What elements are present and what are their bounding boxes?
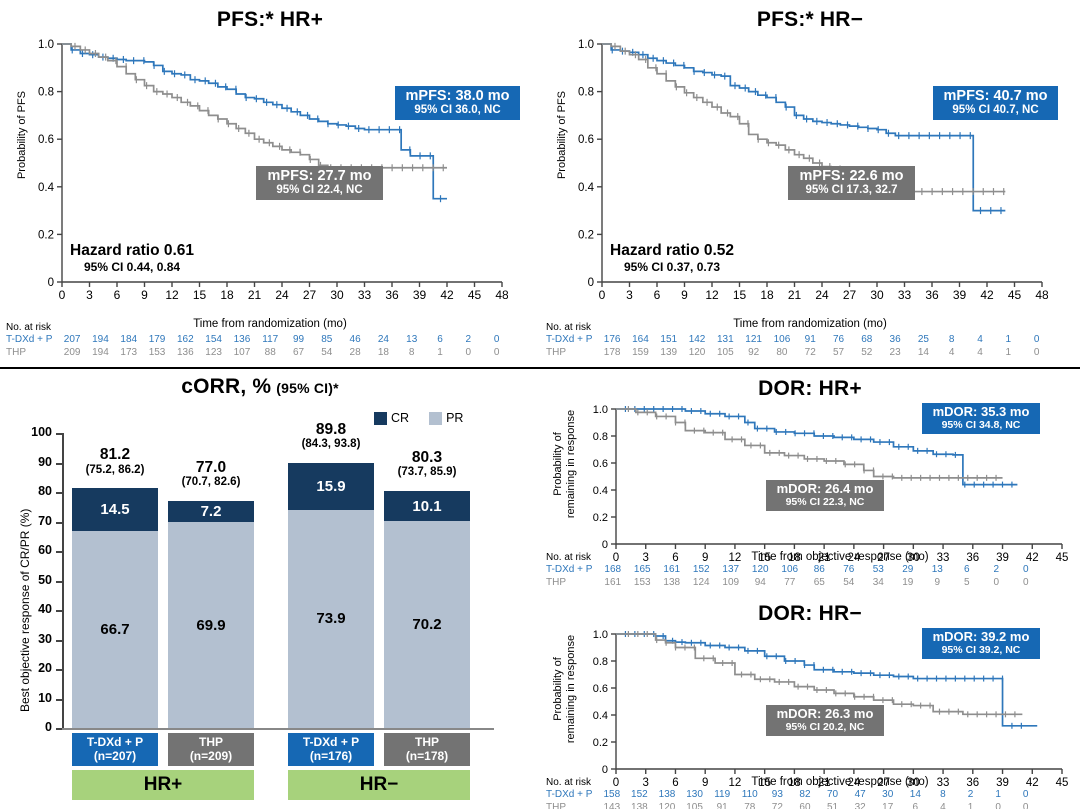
risk-cell: 86 — [805, 564, 835, 577]
corr-title-main: cORR, % — [181, 375, 271, 398]
risk-cell: 2 — [982, 564, 1012, 577]
risk-cell: 91 — [708, 802, 736, 809]
risk-cell: 138 — [653, 789, 681, 802]
risk-cell: 0 — [1022, 334, 1050, 347]
risk-cell: 24 — [369, 334, 397, 347]
corr-arm-name: THP — [415, 736, 439, 749]
y-axis-label-pfs_hr_pos: Probability of PFS — [16, 55, 28, 215]
y-axis-label-line2: remaining in response — [565, 399, 578, 529]
risk-cell: 207 — [58, 334, 86, 347]
callout-arm2-line2: 95% CI 22.4, NC — [262, 184, 377, 197]
risk-cell: 0 — [1022, 347, 1050, 360]
corr-tickmark — [56, 581, 62, 583]
risk-cell: 136 — [171, 347, 199, 360]
risk-row-arm1: T-DXd + P2071941841791621541361179985462… — [6, 334, 511, 347]
risk-cell: 29 — [893, 564, 923, 577]
risk-cell: 1 — [994, 334, 1022, 347]
svg-text:0: 0 — [602, 764, 608, 776]
corr-group-box: HR+ — [72, 770, 254, 800]
svg-text:12: 12 — [705, 288, 719, 302]
callout-arm2-line1: mDOR: 26.3 mo — [772, 707, 878, 722]
svg-text:18: 18 — [760, 288, 774, 302]
legend-label: PR — [446, 411, 463, 425]
corr-tickmark — [56, 640, 62, 642]
corr-total-value: 80.3 — [370, 449, 484, 466]
svg-text:1.0: 1.0 — [578, 39, 594, 51]
corr-segment-cr: 10.1 — [384, 491, 470, 521]
risk-cell: 60 — [791, 802, 819, 809]
risk-cell: 153 — [143, 347, 171, 360]
risk-cell: 119 — [708, 789, 736, 802]
risk-cell: 32 — [846, 802, 874, 809]
svg-text:15: 15 — [733, 288, 747, 302]
risk-cell: 176 — [598, 334, 626, 347]
risk-cell: 91 — [796, 334, 824, 347]
risk-cell: 72 — [764, 802, 792, 809]
risk-cell: 117 — [256, 334, 284, 347]
risk-row-label: THP — [546, 347, 598, 360]
risk-cell: 152 — [626, 789, 654, 802]
svg-text:0: 0 — [588, 277, 594, 289]
corr-total-ci: (73.7, 85.9) — [370, 466, 484, 479]
risk-cell: 34 — [864, 577, 894, 590]
svg-text:27: 27 — [303, 288, 317, 302]
risk-cell: 1 — [426, 347, 454, 360]
risk-cell: 18 — [369, 347, 397, 360]
risk-cell: 8 — [938, 334, 966, 347]
hazard-ratio-pfs_hr_neg: Hazard ratio 0.5295% CI 0.37, 0.73 — [610, 242, 734, 274]
risk-table-dor_hr_pos: No. at riskT-DXd + P16816516115213712010… — [546, 552, 1041, 589]
callout-arm2-line1: mPFS: 27.7 mo — [262, 168, 377, 184]
risk-cell: 0 — [1011, 564, 1041, 577]
svg-text:24: 24 — [815, 288, 829, 302]
risk-cell: 161 — [598, 577, 628, 590]
risk-cell: 54 — [834, 577, 864, 590]
risk-cell: 80 — [768, 347, 796, 360]
risk-cell: 6 — [952, 564, 982, 577]
svg-text:0.8: 0.8 — [578, 87, 594, 99]
risk-cell: 57 — [824, 347, 852, 360]
svg-text:9: 9 — [681, 288, 688, 302]
corr-tickmark — [56, 433, 62, 435]
risk-cell: 72 — [796, 347, 824, 360]
corr-y-axis-label: Best objective response of CR/PR (%) — [18, 509, 32, 712]
hazard-ratio-value: Hazard ratio 0.52 — [610, 242, 734, 260]
risk-cell: 1 — [994, 347, 1022, 360]
panel-title-pfs_hr_pos: PFS:* HR+ — [10, 8, 530, 32]
corr-total-value: 77.0 — [154, 459, 268, 476]
svg-text:45: 45 — [1056, 552, 1069, 564]
section-divider — [0, 367, 1080, 369]
panel-title-pfs_hr_neg: PFS:* HR− — [550, 8, 1070, 32]
risk-table-pfs_hr_neg: No. at riskT-DXd + P17616415114213112110… — [546, 322, 1051, 359]
callout-arm1-line2: 95% CI 40.7, NC — [939, 104, 1052, 117]
risk-table-grid: T-DXd + P2071941841791621541361179985462… — [6, 334, 511, 359]
risk-cell: 110 — [736, 789, 764, 802]
risk-row-label: T-DXd + P — [546, 334, 598, 347]
risk-cell: 106 — [768, 334, 796, 347]
risk-cell: 105 — [681, 802, 709, 809]
corr-arm-box: T-DXd + P(n=207) — [72, 733, 158, 766]
corr-arm-box: T-DXd + P(n=176) — [288, 733, 374, 766]
callout-arm2-pfs_hr_neg: mPFS: 22.6 mo95% CI 17.3, 32.7 — [788, 166, 915, 200]
risk-cell: 165 — [628, 564, 658, 577]
corr-arm-n: (n=178) — [406, 750, 448, 763]
risk-row-label: T-DXd + P — [6, 334, 58, 347]
hazard-ratio-pfs_hr_pos: Hazard ratio 0.6195% CI 0.44, 0.84 — [70, 242, 194, 274]
svg-text:0.2: 0.2 — [578, 229, 594, 241]
callout-arm1-pfs_hr_pos: mPFS: 38.0 mo95% CI 36.0, NC — [395, 86, 520, 120]
risk-cell: 68 — [853, 334, 881, 347]
risk-cell: 19 — [893, 577, 923, 590]
callout-arm2-dor_hr_neg: mDOR: 26.3 mo95% CI 20.2, NC — [766, 705, 884, 736]
risk-cell: 4 — [966, 334, 994, 347]
hazard-ratio-value: Hazard ratio 0.61 — [70, 242, 194, 260]
risk-cell: 65 — [805, 577, 835, 590]
corr-tickmark — [56, 522, 62, 524]
risk-row-label: T-DXd + P — [546, 564, 598, 577]
risk-cell: 0 — [482, 334, 510, 347]
risk-cell: 178 — [598, 347, 626, 360]
svg-text:18: 18 — [220, 288, 234, 302]
callout-arm1-dor_hr_neg: mDOR: 39.2 mo95% CI 39.2, NC — [922, 628, 1040, 659]
risk-cell: 14 — [902, 789, 930, 802]
risk-cell: 53 — [864, 564, 894, 577]
risk-cell: 142 — [683, 334, 711, 347]
risk-cell: 131 — [711, 334, 739, 347]
svg-text:3: 3 — [86, 288, 93, 302]
risk-cell: 76 — [834, 564, 864, 577]
risk-table-grid: T-DXd + P1581521381301191109382704730148… — [546, 789, 1040, 809]
risk-cell: 164 — [626, 334, 654, 347]
risk-table-header: No. at risk — [546, 552, 1041, 563]
risk-cell: 1 — [957, 802, 985, 809]
risk-cell: 0 — [482, 347, 510, 360]
figure-root: PFS:* HR+1.00.80.60.40.20036912151821242… — [0, 0, 1080, 809]
risk-cell: 0 — [454, 347, 482, 360]
svg-text:0.4: 0.4 — [593, 710, 608, 722]
svg-text:6: 6 — [654, 288, 661, 302]
risk-row-label: THP — [546, 577, 598, 590]
risk-cell: 162 — [171, 334, 199, 347]
risk-cell: 93 — [764, 789, 792, 802]
risk-cell: 85 — [313, 334, 341, 347]
callout-arm1-line1: mDOR: 35.3 mo — [928, 405, 1034, 420]
risk-cell: 123 — [199, 347, 227, 360]
risk-cell: 2 — [957, 789, 985, 802]
svg-text:1.0: 1.0 — [593, 629, 608, 641]
corr-bar: 14.566.7 — [72, 488, 158, 728]
risk-cell: 137 — [716, 564, 746, 577]
risk-cell: 143 — [598, 802, 626, 809]
svg-text:21: 21 — [788, 288, 802, 302]
corr-y-tick-label: 100 — [26, 425, 52, 439]
risk-cell: 77 — [775, 577, 805, 590]
risk-table-header: No. at risk — [546, 322, 1051, 333]
risk-cell: 82 — [791, 789, 819, 802]
svg-text:0.4: 0.4 — [38, 182, 55, 194]
svg-text:39: 39 — [413, 288, 427, 302]
corr-arm-name: T-DXd + P — [87, 736, 143, 749]
corr-tickmark — [56, 728, 62, 730]
risk-cell: 28 — [341, 347, 369, 360]
risk-cell: 52 — [853, 347, 881, 360]
hazard-ratio-ci: 95% CI 0.44, 0.84 — [70, 260, 194, 274]
svg-text:42: 42 — [440, 288, 454, 302]
risk-cell: 76 — [824, 334, 852, 347]
svg-text:6: 6 — [114, 288, 121, 302]
svg-text:0.6: 0.6 — [593, 683, 608, 695]
risk-row-arm1: T-DXd + P1761641511421311211069176683625… — [546, 334, 1051, 347]
risk-cell: 13 — [923, 564, 953, 577]
risk-cell: 5 — [952, 577, 982, 590]
panel-title-corr: cORR, %(95% CI)* — [10, 375, 510, 399]
risk-cell: 2 — [454, 334, 482, 347]
corr-arm-n: (n=209) — [190, 750, 232, 763]
corr-bar-total: 77.0(70.7, 82.6) — [154, 459, 268, 489]
y-axis-label-line1: Probability of — [552, 624, 565, 754]
svg-text:0: 0 — [599, 288, 606, 302]
risk-row-arm2: THP1431381201059178726051321764100 — [546, 802, 1040, 809]
callout-arm1-pfs_hr_neg: mPFS: 40.7 mo95% CI 40.7, NC — [933, 86, 1058, 120]
svg-text:42: 42 — [980, 288, 994, 302]
risk-cell: 106 — [775, 564, 805, 577]
corr-total-value: 89.8 — [274, 421, 388, 438]
corr-group-box: HR− — [288, 770, 470, 800]
risk-cell: 25 — [909, 334, 937, 347]
callout-arm1-line1: mDOR: 39.2 mo — [928, 630, 1034, 645]
svg-text:12: 12 — [165, 288, 179, 302]
risk-cell: 124 — [687, 577, 717, 590]
svg-text:0.4: 0.4 — [593, 485, 608, 497]
svg-text:30: 30 — [870, 288, 884, 302]
corr-y-tick-label: 80 — [26, 484, 52, 498]
risk-row-arm1: T-DXd + P1681651611521371201068676532913… — [546, 564, 1041, 577]
svg-text:0.6: 0.6 — [38, 134, 54, 146]
risk-cell: 17 — [874, 802, 902, 809]
callout-arm2-line2: 95% CI 17.3, 32.7 — [794, 184, 909, 197]
corr-tickmark — [56, 699, 62, 701]
risk-cell: 8 — [398, 347, 426, 360]
hazard-ratio-ci: 95% CI 0.37, 0.73 — [610, 260, 734, 274]
risk-cell: 6 — [902, 802, 930, 809]
risk-table-pfs_hr_pos: No. at riskT-DXd + P20719418417916215413… — [6, 322, 511, 359]
risk-cell: 194 — [86, 334, 114, 347]
risk-cell: 153 — [628, 577, 658, 590]
svg-text:48: 48 — [1035, 288, 1048, 302]
risk-cell: 0 — [984, 802, 1012, 809]
risk-cell: 209 — [58, 347, 86, 360]
risk-cell: 51 — [819, 802, 847, 809]
svg-text:0.6: 0.6 — [593, 458, 608, 470]
corr-arm-name: THP — [199, 736, 223, 749]
corr-arm-n: (n=207) — [94, 750, 136, 763]
risk-cell: 139 — [655, 347, 683, 360]
corr-baseline — [62, 728, 494, 730]
risk-row-arm1: T-DXd + P1581521381301191109382704730148… — [546, 789, 1040, 802]
svg-text:0.2: 0.2 — [593, 512, 608, 524]
svg-text:0: 0 — [59, 288, 66, 302]
callout-arm1-dor_hr_pos: mDOR: 35.3 mo95% CI 34.8, NC — [922, 403, 1040, 434]
risk-cell: 109 — [716, 577, 746, 590]
risk-cell: 70 — [819, 789, 847, 802]
callout-arm2-line2: 95% CI 22.3, NC — [772, 497, 878, 509]
corr-segment-cr: 15.9 — [288, 463, 374, 510]
svg-text:45: 45 — [1008, 288, 1022, 302]
svg-text:45: 45 — [1056, 777, 1069, 789]
svg-text:0.2: 0.2 — [593, 737, 608, 749]
risk-table-header: No. at risk — [6, 322, 511, 333]
risk-cell: 130 — [681, 789, 709, 802]
callout-arm2-line1: mPFS: 22.6 mo — [794, 168, 909, 184]
risk-cell: 67 — [284, 347, 312, 360]
risk-cell: 136 — [228, 334, 256, 347]
risk-cell: 107 — [228, 347, 256, 360]
corr-tickmark — [56, 551, 62, 553]
svg-text:1.0: 1.0 — [593, 404, 608, 416]
corr-segment-cr: 14.5 — [72, 488, 158, 531]
risk-cell: 154 — [199, 334, 227, 347]
risk-cell: 46 — [341, 334, 369, 347]
risk-cell: 168 — [598, 564, 628, 577]
callout-arm2-pfs_hr_pos: mPFS: 27.7 mo95% CI 22.4, NC — [256, 166, 383, 200]
risk-cell: 138 — [626, 802, 654, 809]
callout-arm2-dor_hr_pos: mDOR: 26.4 mo95% CI 22.3, NC — [766, 480, 884, 511]
risk-cell: 99 — [284, 334, 312, 347]
callout-arm1-line2: 95% CI 36.0, NC — [401, 104, 514, 117]
risk-cell: 4 — [929, 802, 957, 809]
risk-cell: 94 — [746, 577, 776, 590]
panel-title-dor_hr_pos: DOR: HR+ — [540, 377, 1080, 401]
risk-row-arm2: THP20919417315313612310788675428188100 — [6, 347, 511, 360]
risk-cell: 4 — [966, 347, 994, 360]
corr-y-tick-label: 90 — [26, 455, 52, 469]
risk-cell: 1 — [984, 789, 1012, 802]
risk-cell: 78 — [736, 802, 764, 809]
km-curve-arm2 — [62, 44, 447, 168]
svg-text:36: 36 — [925, 288, 939, 302]
svg-text:0.8: 0.8 — [593, 431, 608, 443]
legend-swatch-pr — [429, 412, 442, 425]
risk-row-label: T-DXd + P — [546, 789, 598, 802]
risk-cell: 159 — [626, 347, 654, 360]
risk-cell: 23 — [881, 347, 909, 360]
risk-cell: 47 — [846, 789, 874, 802]
svg-text:24: 24 — [275, 288, 289, 302]
svg-text:27: 27 — [843, 288, 857, 302]
risk-row-arm2: THP1611531381241099477655434199500 — [546, 577, 1041, 590]
callout-arm2-line1: mDOR: 26.4 mo — [772, 482, 878, 497]
risk-cell: 8 — [929, 789, 957, 802]
corr-total-ci: (70.7, 82.6) — [154, 476, 268, 489]
legend-item-pr: PR — [429, 411, 463, 425]
svg-text:3: 3 — [626, 288, 633, 302]
svg-text:33: 33 — [898, 288, 912, 302]
svg-text:45: 45 — [468, 288, 482, 302]
risk-table-dor_hr_neg: No. at riskT-DXd + P15815213813011911093… — [546, 777, 1040, 809]
svg-text:0.8: 0.8 — [593, 656, 608, 668]
y-axis-label-dor_hr_neg: Probability ofremaining in response — [552, 624, 577, 754]
callout-arm1-line2: 95% CI 39.2, NC — [928, 645, 1034, 657]
svg-text:30: 30 — [330, 288, 344, 302]
risk-cell: 105 — [711, 347, 739, 360]
panel-title-dor_hr_neg: DOR: HR− — [540, 602, 1080, 626]
corr-bar: 7.269.9 — [168, 501, 254, 728]
svg-text:33: 33 — [358, 288, 372, 302]
corr-title-sub: (95% CI)* — [276, 380, 338, 396]
risk-cell: 88 — [256, 347, 284, 360]
corr-bar-total: 89.8(84.3, 93.8) — [274, 421, 388, 451]
corr-bar-total: 80.3(73.7, 85.9) — [370, 449, 484, 479]
corr-y-axis — [62, 433, 64, 730]
risk-cell: 36 — [881, 334, 909, 347]
corr-segment-pr: 73.9 — [288, 510, 374, 728]
svg-text:0: 0 — [602, 539, 608, 551]
corr-tickmark — [56, 492, 62, 494]
risk-cell: 14 — [909, 347, 937, 360]
risk-cell: 179 — [143, 334, 171, 347]
risk-cell: 120 — [746, 564, 776, 577]
svg-text:0.4: 0.4 — [578, 182, 595, 194]
callout-arm1-line1: mPFS: 38.0 mo — [401, 88, 514, 104]
svg-text:36: 36 — [385, 288, 399, 302]
risk-cell: 161 — [657, 564, 687, 577]
corr-arm-n: (n=176) — [310, 750, 352, 763]
risk-cell: 194 — [86, 347, 114, 360]
legend-label: CR — [391, 411, 409, 425]
risk-cell: 120 — [653, 802, 681, 809]
risk-row-label: THP — [546, 802, 598, 809]
callout-arm1-line1: mPFS: 40.7 mo — [939, 88, 1052, 104]
risk-cell: 0 — [1012, 802, 1040, 809]
risk-cell: 184 — [115, 334, 143, 347]
risk-cell: 30 — [874, 789, 902, 802]
corr-bar: 15.973.9 — [288, 463, 374, 728]
svg-text:0.2: 0.2 — [38, 229, 54, 241]
y-axis-label-line1: Probability of — [552, 399, 565, 529]
risk-cell: 0 — [982, 577, 1012, 590]
svg-text:9: 9 — [141, 288, 148, 302]
svg-text:1.0: 1.0 — [38, 39, 54, 51]
risk-cell: 9 — [923, 577, 953, 590]
corr-y-tick-label: 0 — [26, 720, 52, 734]
svg-text:0.6: 0.6 — [578, 134, 594, 146]
svg-text:15: 15 — [193, 288, 207, 302]
risk-cell: 152 — [687, 564, 717, 577]
callout-arm1-line2: 95% CI 34.8, NC — [928, 420, 1034, 432]
svg-text:21: 21 — [248, 288, 262, 302]
risk-cell: 0 — [1012, 789, 1040, 802]
y-axis-label-pfs_hr_neg: Probability of PFS — [556, 55, 568, 215]
svg-text:0: 0 — [48, 277, 54, 289]
corr-tickmark — [56, 610, 62, 612]
risk-row-arm2: THP178159139120105928072575223144410 — [546, 347, 1051, 360]
corr-segment-pr: 66.7 — [72, 531, 158, 728]
y-axis-label-line2: remaining in response — [565, 624, 578, 754]
risk-cell: 151 — [655, 334, 683, 347]
risk-cell: 6 — [426, 334, 454, 347]
corr-arm-box: THP(n=178) — [384, 733, 470, 766]
risk-table-grid: T-DXd + P1681651611521371201068676532913… — [546, 564, 1041, 589]
risk-cell: 120 — [683, 347, 711, 360]
risk-cell: 158 — [598, 789, 626, 802]
svg-text:48: 48 — [495, 288, 508, 302]
risk-row-label: THP — [6, 347, 58, 360]
risk-table-header: No. at risk — [546, 777, 1040, 788]
risk-cell: 121 — [739, 334, 767, 347]
risk-cell: 173 — [115, 347, 143, 360]
risk-cell: 4 — [938, 347, 966, 360]
